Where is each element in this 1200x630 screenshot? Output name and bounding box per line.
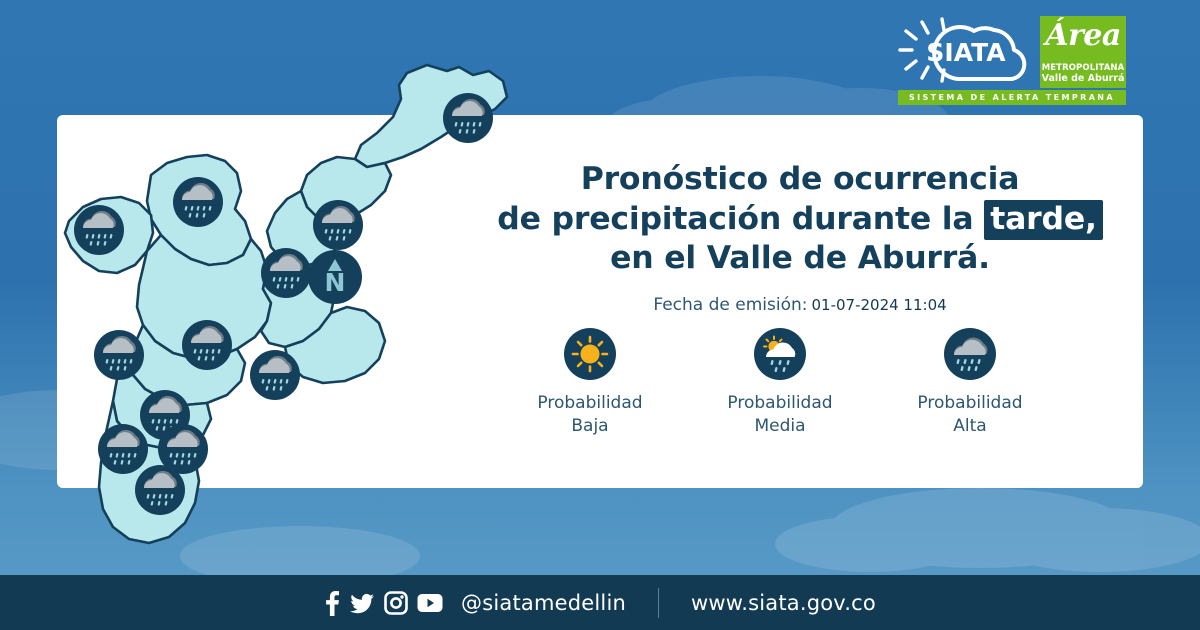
youtube-icon[interactable] — [417, 593, 443, 613]
issue-date: Fecha de emisión:01-07-2024 11:04 — [490, 295, 1110, 315]
headline-highlight: tarde, — [984, 200, 1103, 240]
legend-label-media: Probabilidad Media — [727, 392, 832, 438]
brand-logo-block: SIATA Área METROPOLITANA Valle de Aburrá… — [898, 16, 1126, 106]
marker-caldas[interactable] — [135, 465, 185, 515]
marker-copacabana[interactable] — [261, 248, 311, 298]
legend-item-baja[interactable]: Probabilidad Baja — [500, 328, 680, 438]
sun-icon — [564, 328, 616, 380]
compass-north-icon: N — [308, 250, 362, 304]
twitter-icon[interactable] — [349, 590, 375, 616]
area-script-text: Área — [1040, 18, 1126, 53]
social-handle[interactable]: @siatamedellin — [461, 591, 626, 615]
headline-line-1: Pronóstico de ocurrencia — [490, 160, 1110, 200]
issue-date-label: Fecha de emisión: — [653, 295, 807, 315]
headline-line-3: en el Valle de Aburrá. — [490, 239, 1110, 279]
sun-cloud-outline-icon: SIATA — [898, 16, 1034, 86]
marker-san-pedro[interactable] — [74, 205, 124, 255]
legend-label-baja: Probabilidad Baja — [537, 392, 642, 438]
instagram-icon[interactable] — [384, 591, 408, 615]
area-line2: Valle de Aburrá — [1040, 73, 1126, 84]
siata-wordmark: SIATA — [926, 38, 1006, 67]
sun-cloud-rain-icon — [754, 328, 806, 380]
marker-sabaneta[interactable] — [98, 424, 148, 474]
page-title: Pronóstico de ocurrencia de precipitació… — [490, 160, 1110, 279]
website-url[interactable]: www.siata.gov.co — [691, 591, 876, 615]
footer-bar: @siatamedellin www.siata.gov.co — [0, 575, 1200, 630]
marker-bello[interactable] — [173, 177, 223, 227]
legend-item-media[interactable]: Probabilidad Media — [690, 328, 870, 438]
issue-date-value: 01-07-2024 11:04 — [811, 296, 946, 314]
infographic-root: SIATA Área METROPOLITANA Valle de Aburrá… — [0, 0, 1200, 630]
cloud-rain-icon — [944, 328, 996, 380]
headline-line-2-text: de precipitación durante la — [497, 201, 984, 237]
area-metropolitana-logo: Área METROPOLITANA Valle de Aburrá — [1040, 16, 1126, 88]
legend-item-alta[interactable]: Probabilidad Alta — [880, 328, 1060, 438]
marker-barbosa[interactable] — [443, 93, 493, 143]
compass-letter: N — [325, 268, 346, 297]
marker-san-jeronimo[interactable] — [94, 330, 144, 380]
siata-logo: SIATA — [898, 16, 1034, 86]
legend-label-alta: Probabilidad Alta — [917, 392, 1022, 438]
marker-envigado[interactable] — [250, 350, 300, 400]
area-line1: METROPOLITANA — [1040, 63, 1126, 73]
footer-divider — [658, 588, 659, 618]
headline-line-2: de precipitación durante la tarde, — [490, 200, 1110, 240]
marker-girardota[interactable] — [313, 200, 363, 250]
tagline-strip: SISTEMA DE ALERTA TEMPRANA — [898, 90, 1126, 105]
social-icon-group — [324, 590, 443, 616]
marker-medellin[interactable] — [182, 320, 232, 370]
forecast-text-panel: Pronóstico de ocurrencia de precipitació… — [490, 160, 1110, 315]
facebook-icon[interactable] — [324, 590, 340, 616]
probability-legend: Probabilidad Baja — [500, 328, 1060, 438]
